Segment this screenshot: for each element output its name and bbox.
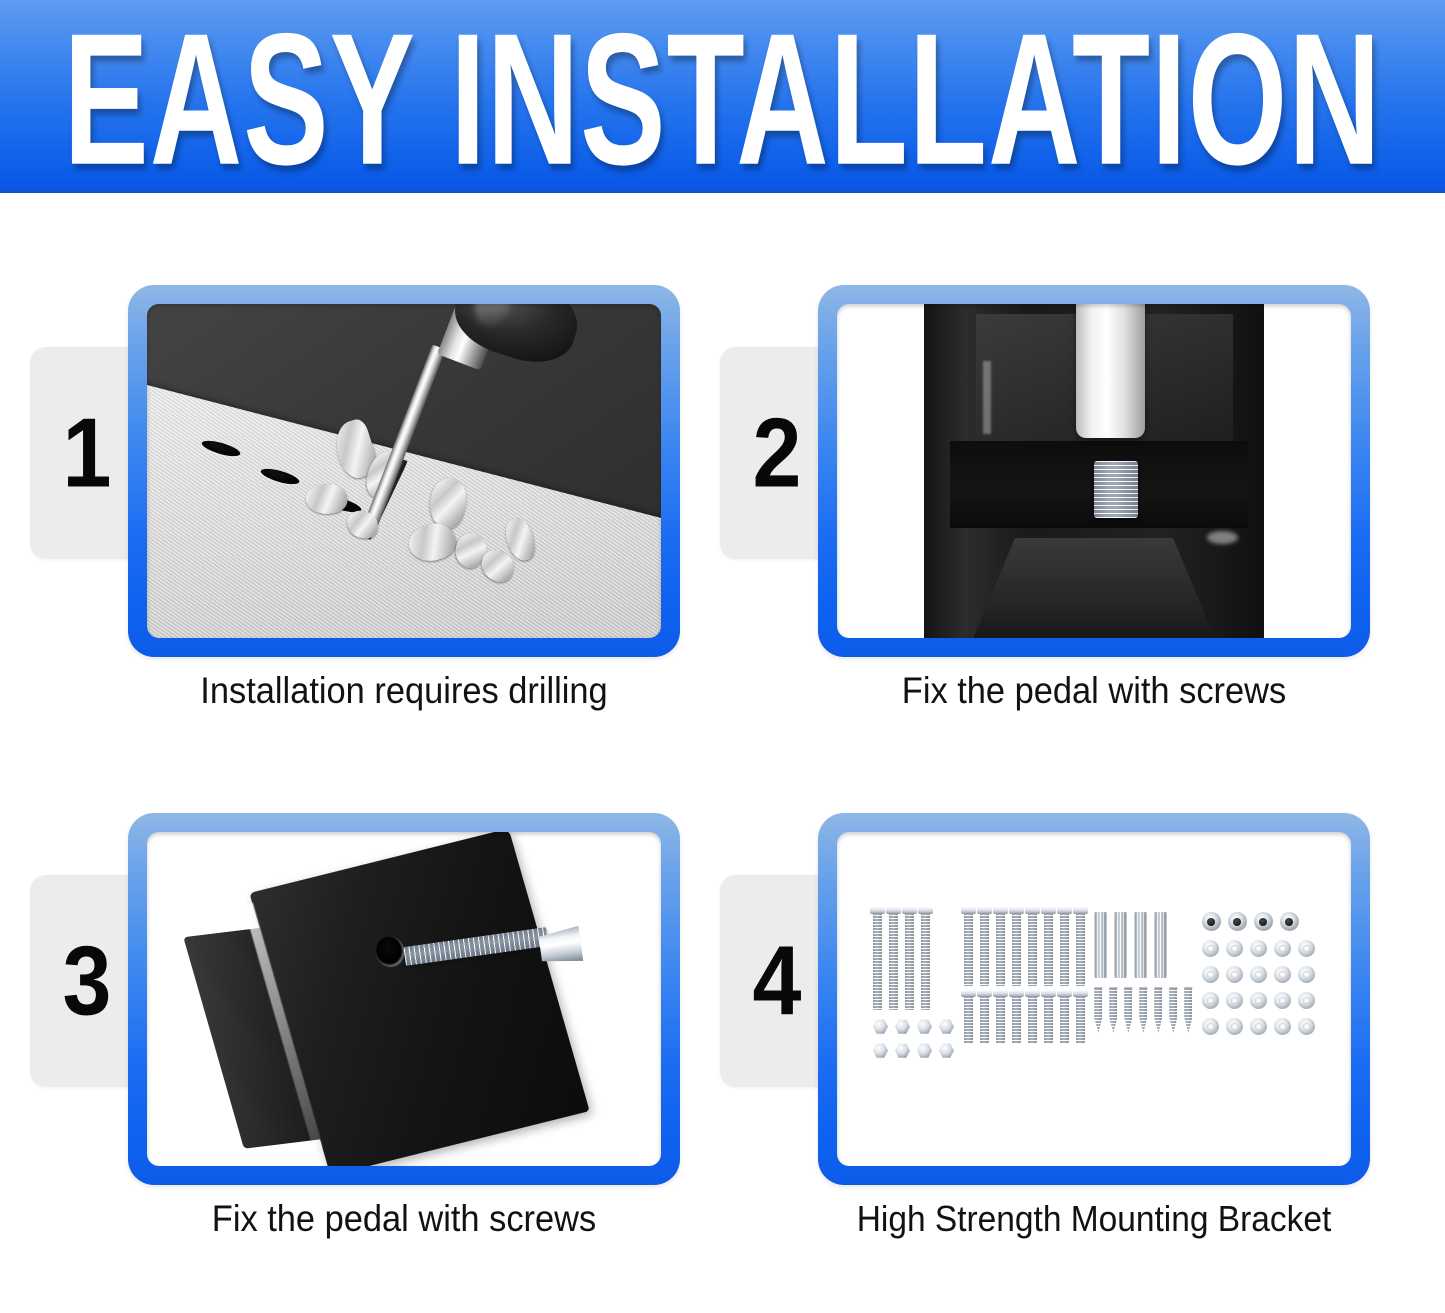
- short-bolt: [1012, 995, 1021, 1043]
- photo-frame-3: [128, 813, 680, 1185]
- flange-nut: [939, 1043, 954, 1058]
- tapping-screw: [1154, 987, 1162, 1033]
- tapping-screw: [1094, 987, 1102, 1033]
- short-bolt: [980, 995, 989, 1043]
- long-bolt: [921, 912, 930, 1010]
- long-bolt: [889, 912, 898, 1010]
- step-number-1: 1: [63, 404, 116, 503]
- long-bolt: [905, 912, 914, 1010]
- flange-nut: [895, 1043, 910, 1058]
- short-bolt: [964, 995, 973, 1043]
- washer: [1274, 992, 1291, 1009]
- flange-nut: [917, 1043, 932, 1058]
- spacer-sleeve: [1094, 912, 1107, 978]
- spacer-sleeve: [1154, 912, 1167, 978]
- medium-bolt: [1044, 912, 1053, 986]
- flange-nut: [939, 1019, 954, 1034]
- short-bolt: [1028, 995, 1037, 1043]
- washer: [1250, 992, 1267, 1009]
- page-title: EASY INSTALLATION: [63, 0, 1381, 193]
- edge-highlight: [983, 361, 990, 434]
- washer: [1226, 1018, 1243, 1035]
- washer: [1202, 966, 1219, 983]
- hardware-group-spacers-and-tapping-screws: [1094, 912, 1192, 1033]
- step-card-4: 4: [720, 813, 1360, 1313]
- step-caption-2: Fix the pedal with screws: [837, 671, 1350, 712]
- step-number-2: 2: [753, 404, 806, 503]
- photo-drill-bit-boring-metal-plate: [147, 304, 661, 638]
- hardware-group-medium-and-short-bolts: [964, 912, 1085, 1043]
- short-bolt: [1044, 995, 1053, 1043]
- photo-frame-4: [818, 813, 1370, 1185]
- medium-bolt: [980, 912, 989, 986]
- washer: [1250, 966, 1267, 983]
- flange-nut: [873, 1043, 888, 1058]
- washer: [1298, 966, 1315, 983]
- flange-nut: [873, 1019, 888, 1034]
- lock-nut: [1228, 912, 1247, 931]
- photo-hardware-fastener-kit: [837, 832, 1351, 1166]
- hardware-group-locknuts-and-washers: [1202, 912, 1315, 1035]
- hardware-group-long-bolts-and-flange-nuts: [873, 912, 954, 1058]
- medium-bolt: [1060, 912, 1069, 986]
- tapping-screw: [1109, 987, 1117, 1033]
- step-card-3: 3 Fix the pedal with screws: [30, 813, 670, 1313]
- washer: [1298, 1018, 1315, 1035]
- medium-bolt-row: [964, 912, 1085, 986]
- flange-nut-row: [873, 1019, 954, 1034]
- tapping-screw-row: [1094, 987, 1192, 1033]
- tapping-screw: [1169, 987, 1177, 1033]
- spacer-sleeve: [1134, 912, 1147, 978]
- photo-frame-1: [128, 285, 680, 657]
- medium-bolt: [1012, 912, 1021, 986]
- photo-black-angle-bracket-with-hex-bolt: [147, 832, 661, 1166]
- washer: [1298, 992, 1315, 1009]
- washer: [1226, 940, 1243, 957]
- washer-row: [1202, 992, 1315, 1009]
- photo-frame-2: [818, 285, 1370, 657]
- washer: [1202, 940, 1219, 957]
- tapping-screw: [1184, 987, 1192, 1033]
- step-number-3: 3: [63, 932, 116, 1031]
- step-card-2: 2 Fix the pedal with screws: [720, 285, 1360, 785]
- medium-bolt: [996, 912, 1005, 986]
- washer: [1202, 992, 1219, 1009]
- steps-grid: 1 Ins: [0, 193, 1445, 1276]
- short-bolt: [1076, 995, 1085, 1043]
- threaded-bolt: [1094, 461, 1138, 518]
- washer: [1250, 940, 1267, 957]
- spacer-sleeve-row: [1094, 912, 1192, 978]
- washer: [1226, 992, 1243, 1009]
- washer-row: [1202, 940, 1315, 957]
- washer: [1274, 966, 1291, 983]
- long-bolt-row: [873, 912, 954, 1010]
- washer: [1298, 940, 1315, 957]
- flange-nut: [895, 1019, 910, 1034]
- washer: [1226, 966, 1243, 983]
- step-caption-4: High Strength Mounting Bracket: [837, 1199, 1350, 1239]
- flange-nut-row: [873, 1043, 954, 1058]
- tapping-screw: [1139, 987, 1147, 1033]
- washer-row: [1202, 1018, 1315, 1035]
- medium-bolt: [1076, 912, 1085, 986]
- tapping-screw: [1124, 987, 1132, 1033]
- lock-nut: [1280, 912, 1299, 931]
- washer-row: [1202, 966, 1315, 983]
- step-caption-3: Fix the pedal with screws: [147, 1199, 660, 1240]
- photo-black-bracket-with-threaded-bolt: [837, 304, 1351, 638]
- lock-nut: [1254, 912, 1273, 931]
- step-card-1: 1 Ins: [30, 285, 670, 785]
- white-rod: [1076, 304, 1145, 438]
- spacer-sleeve: [1114, 912, 1127, 978]
- washer: [1274, 940, 1291, 957]
- hardware-layout: [873, 912, 1315, 1092]
- step-caption-1: Installation requires drilling: [147, 671, 660, 712]
- short-bolt-row: [964, 995, 1085, 1043]
- medium-bolt: [964, 912, 973, 986]
- medium-bolt: [1028, 912, 1037, 986]
- flange-nut: [917, 1019, 932, 1034]
- washer: [1202, 1018, 1219, 1035]
- short-bolt: [996, 995, 1005, 1043]
- long-bolt: [873, 912, 882, 1010]
- washer: [1274, 1018, 1291, 1035]
- lock-nut-row: [1202, 912, 1315, 931]
- header-banner: EASY INSTALLATION: [0, 0, 1445, 193]
- lock-nut: [1202, 912, 1221, 931]
- step-number-4: 4: [753, 932, 806, 1031]
- short-bolt: [1060, 995, 1069, 1043]
- washer: [1250, 1018, 1267, 1035]
